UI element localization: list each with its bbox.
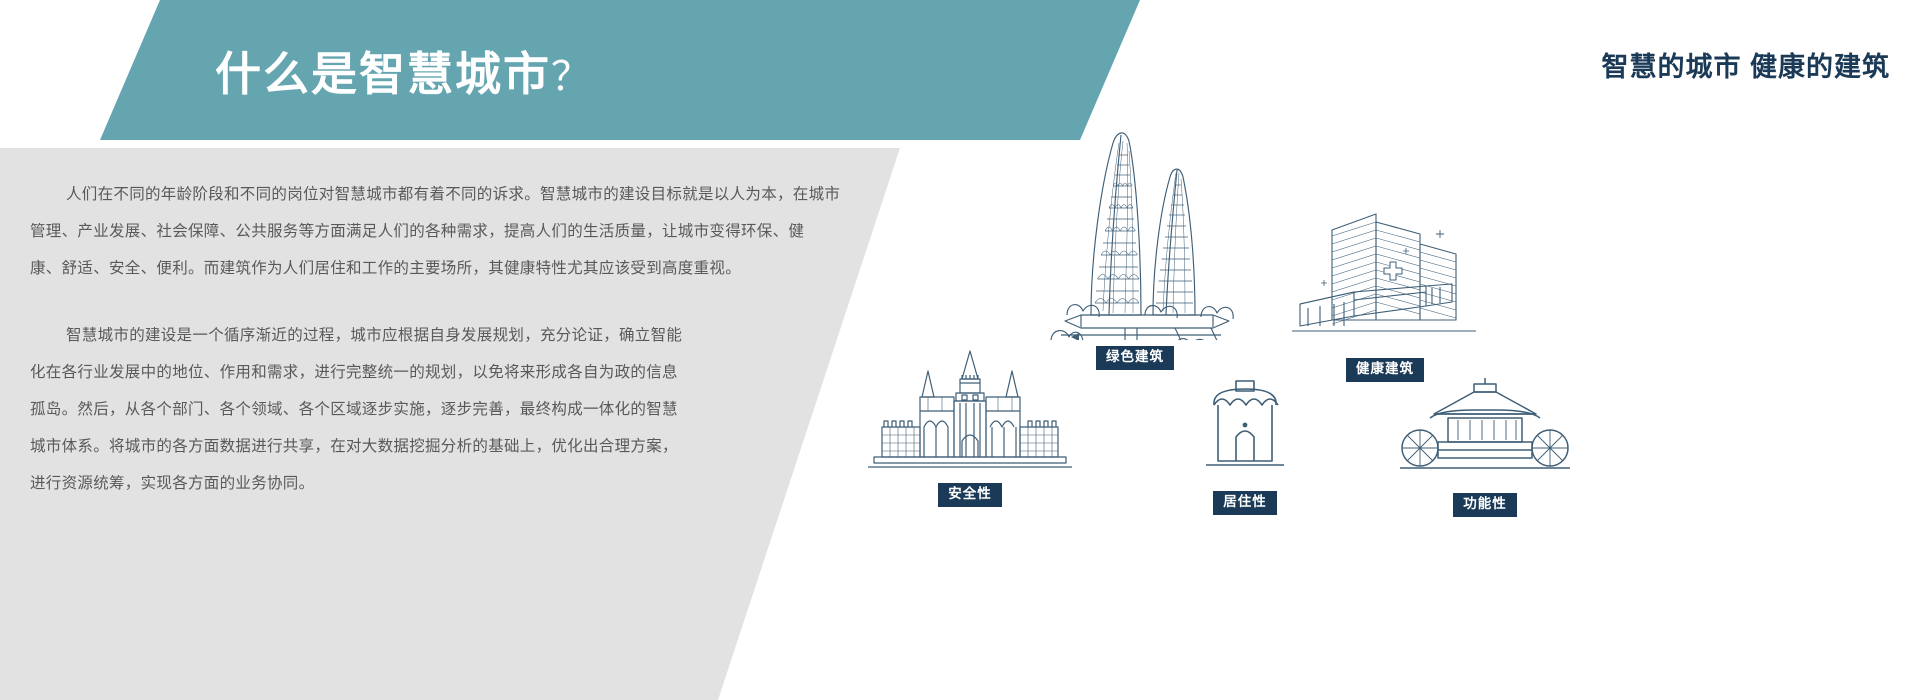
- safety-label-wrap: 安全性: [840, 483, 1100, 507]
- paragraph-2-line-3: 孤岛。然后，从各个部门、各个领域、各个区域逐步实施，逐步完善，最终构成一体化的智…: [30, 391, 860, 428]
- illustration-safety: 安全性: [840, 345, 1100, 507]
- castle-fortress-icon: [850, 345, 1090, 475]
- paragraph-2: 智慧城市的建设是一个循序渐近的过程，城市应根据自身发展规划，充分论证，确立智能 …: [0, 317, 860, 502]
- body-text-block: 人们在不同的年龄阶段和不同的岗位对智慧城市都有着不同的诉求。智慧城市的建设目标就…: [0, 148, 860, 502]
- house-tent-icon: [1180, 365, 1310, 483]
- functionality-label-wrap: 功能性: [1370, 493, 1600, 517]
- illustration-livability: 居住性: [1140, 365, 1350, 515]
- pavilion-hall-icon: [1390, 370, 1580, 485]
- paragraph-1-line-1: 人们在不同的年龄阶段和不同的岗位对智慧城市都有着不同的诉求。智慧城市的建设目标就…: [30, 176, 860, 213]
- paragraph-2-line-4: 城市体系。将城市的各方面数据进行共享，在对大数据挖掘分析的基础上，优化出合理方案…: [30, 428, 860, 465]
- page-title-question-mark: ？: [551, 55, 593, 99]
- paragraph-1: 人们在不同的年龄阶段和不同的岗位对智慧城市都有着不同的诉求。智慧城市的建设目标就…: [0, 176, 860, 287]
- paragraph-2-line-5: 进行资源统筹，实现各方面的业务协同。: [30, 465, 860, 502]
- slide-canvas: 什么是智慧城市？ 智慧的城市 健康的建筑 人们在不同的年龄阶段和不同的岗位对智慧…: [0, 0, 1920, 700]
- livability-label-wrap: 居住性: [1140, 491, 1350, 515]
- illustration-green-building: 绿色建筑: [1010, 115, 1260, 370]
- illustration-health-building: 健康建筑: [1260, 200, 1510, 382]
- paragraph-2-line-1: 智慧城市的建设是一个循序渐近的过程，城市应根据自身发展规划，充分论证，确立智能: [30, 317, 860, 354]
- illustration-group: 绿色建筑: [840, 95, 1920, 700]
- illustration-functionality: 功能性: [1370, 370, 1600, 517]
- safety-label: 安全性: [938, 483, 1002, 507]
- brand-heading: 智慧的城市 健康的建筑: [1601, 45, 1890, 84]
- paragraph-1-line-2: 管理、产业发展、社会保障、公共服务等方面满足人们的各种需求，提高人们的生活质量，…: [30, 213, 860, 250]
- page-title: 什么是智慧城市？: [215, 38, 593, 104]
- hospital-tower-icon: [1280, 200, 1490, 350]
- functionality-label: 功能性: [1453, 493, 1517, 517]
- page-title-text: 什么是智慧城市: [215, 48, 551, 100]
- paragraph-2-line-2: 化在各行业发展中的地位、作用和需求，进行完整统一的规划，以免将来形成各自为政的信…: [30, 354, 860, 391]
- livability-label: 居住性: [1213, 491, 1277, 515]
- paragraph-1-line-3: 康、舒适、安全、便利。而建筑作为人们居住和工作的主要场所，其健康特性尤其应该受到…: [30, 250, 860, 287]
- twin-towers-icon: [1025, 115, 1245, 340]
